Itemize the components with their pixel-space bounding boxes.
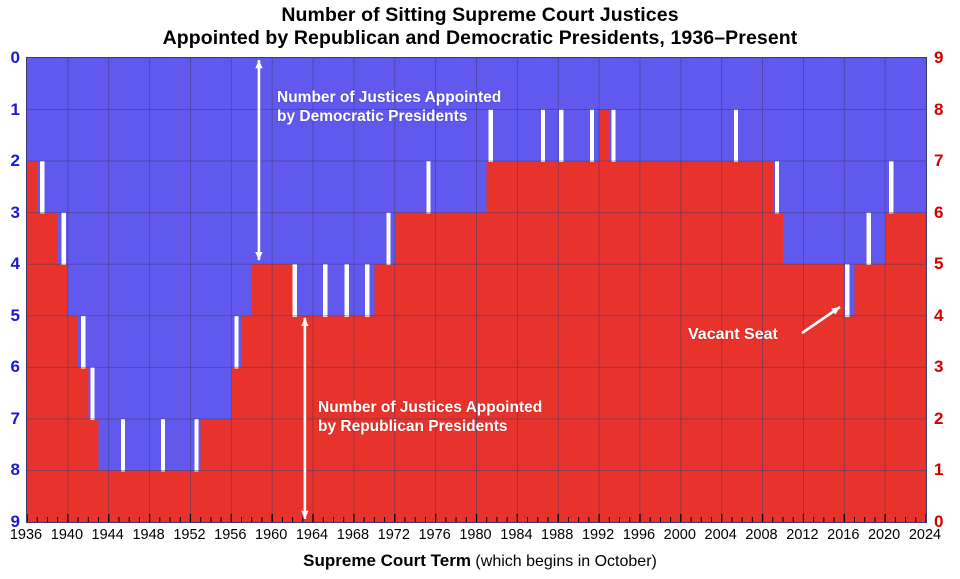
republican-step: [814, 264, 824, 522]
vacant-seat-sliver: [293, 264, 297, 317]
republican-step: [58, 264, 68, 522]
republican-step: [803, 264, 813, 522]
x-tick-2004: 2004: [698, 527, 744, 543]
vacant-seat-sliver: [161, 419, 165, 472]
stacked-area-chart: [27, 58, 926, 522]
x-tick-1980: 1980: [453, 527, 499, 543]
republican-step: [282, 264, 292, 522]
x-tick-2016: 2016: [820, 527, 866, 543]
republican-step: [609, 161, 619, 522]
x-tick-1988: 1988: [534, 527, 580, 543]
x-tick-2020: 2020: [861, 527, 907, 543]
vacant-seat-sliver: [81, 316, 85, 369]
y-left-tick-2: 2: [0, 152, 20, 169]
x-tick-2012: 2012: [779, 527, 825, 543]
x-axis-title: Supreme Court Term (which begins in Octo…: [0, 551, 960, 571]
x-tick-1948: 1948: [126, 527, 172, 543]
republican-step: [160, 470, 170, 522]
vacant-seat-sliver: [889, 161, 893, 214]
x-tick-1996: 1996: [616, 527, 662, 543]
vacant-seat-sliver: [40, 161, 44, 214]
republican-step: [129, 470, 139, 522]
republican-step: [865, 264, 875, 522]
republican-step: [517, 161, 527, 522]
republican-step: [119, 470, 129, 522]
republican-step: [487, 161, 497, 522]
republican-step: [640, 161, 650, 522]
x-tick-1964: 1964: [289, 527, 335, 543]
x-tick-1960: 1960: [248, 527, 294, 543]
vacant-seat-sliver: [426, 161, 430, 214]
y-right-tick-3: 3: [934, 358, 954, 375]
vacant-seat-sliver: [867, 213, 871, 266]
republican-step: [170, 470, 180, 522]
republican-step: [558, 161, 568, 522]
x-tick-1956: 1956: [207, 527, 253, 543]
y-left-tick-3: 3: [0, 204, 20, 221]
republican-step: [834, 264, 844, 522]
republican-step: [620, 161, 630, 522]
vacant-seat-sliver: [541, 110, 545, 163]
y-right-tick-9: 9: [934, 49, 954, 66]
vacant-seat-sliver: [62, 213, 66, 266]
x-axis-title-note: (which begins in October): [471, 553, 657, 570]
y-right-tick-2: 2: [934, 410, 954, 427]
y-right-tick-7: 7: [934, 152, 954, 169]
y-left-tick-6: 6: [0, 358, 20, 375]
vacant-seat-sliver: [387, 213, 391, 266]
republican-step: [190, 470, 200, 522]
republican-step: [538, 161, 548, 522]
y-right-tick-5: 5: [934, 255, 954, 272]
republican-step: [568, 161, 578, 522]
y-left-tick-7: 7: [0, 410, 20, 427]
annotation-democratic-line2: by Democratic Presidents: [277, 107, 501, 126]
republican-step: [630, 161, 640, 522]
annotation-democratic-line1: Number of Justices Appointed: [277, 88, 501, 107]
vacant-seat-sliver: [559, 110, 563, 163]
vacant-seat-sliver: [323, 264, 327, 317]
republican-step: [793, 264, 803, 522]
y-right-tick-8: 8: [934, 101, 954, 118]
vacant-seat-sliver: [611, 110, 615, 163]
vacant-seat-sliver: [365, 264, 369, 317]
republican-step: [262, 264, 272, 522]
x-tick-1936: 1936: [3, 527, 49, 543]
republican-step: [824, 264, 834, 522]
x-tick-1992: 1992: [575, 527, 621, 543]
y-left-tick-8: 8: [0, 461, 20, 478]
republican-step: [109, 470, 119, 522]
republican-step: [27, 161, 37, 522]
annotation-democratic: Number of Justices Appointed by Democrat…: [277, 88, 501, 126]
x-tick-1952: 1952: [167, 527, 213, 543]
y-right-tick-6: 6: [934, 204, 954, 221]
republican-step: [150, 470, 160, 522]
x-tick-1984: 1984: [493, 527, 539, 543]
y-right-tick-1: 1: [934, 461, 954, 478]
x-tick-1944: 1944: [85, 527, 131, 543]
chart-title-line2: Appointed by Republican and Democratic P…: [0, 27, 960, 50]
republican-step: [507, 161, 517, 522]
republican-step: [671, 161, 681, 522]
y-left-tick-5: 5: [0, 307, 20, 324]
vacant-seat-sliver: [775, 161, 779, 214]
annotation-republican: Number of Justices Appointed by Republic…: [318, 398, 542, 436]
republican-step: [548, 161, 558, 522]
vacant-seat-sliver: [194, 419, 198, 472]
vacant-seat-sliver: [590, 110, 594, 163]
republican-step: [385, 264, 395, 522]
vacant-seat-sliver: [845, 264, 849, 317]
plot-area: [26, 57, 927, 523]
y-left-tick-4: 4: [0, 255, 20, 272]
y-left-tick-1: 1: [0, 101, 20, 118]
republican-step: [231, 367, 241, 522]
chart-title: Number of Sitting Supreme Court Justices…: [0, 4, 960, 50]
republican-step: [875, 264, 885, 522]
annotation-vacant-seat: Vacant Seat: [688, 325, 778, 344]
republican-step: [579, 161, 589, 522]
vacant-seat-sliver: [90, 367, 94, 420]
chart-page: Number of Sitting Supreme Court Justices…: [0, 0, 960, 579]
x-tick-2000: 2000: [657, 527, 703, 543]
republican-step: [252, 264, 262, 522]
vacant-seat-sliver: [345, 264, 349, 317]
x-tick-2008: 2008: [739, 527, 785, 543]
republican-step: [783, 264, 793, 522]
y-right-tick-4: 4: [934, 307, 954, 324]
republican-step: [650, 161, 660, 522]
annotation-republican-line1: Number of Justices Appointed: [318, 398, 542, 417]
annotation-republican-line2: by Republican Presidents: [318, 417, 542, 436]
x-tick-2024: 2024: [902, 527, 948, 543]
republican-step: [528, 161, 538, 522]
x-tick-1940: 1940: [44, 527, 90, 543]
republican-step: [854, 264, 864, 522]
vacant-seat-sliver: [121, 419, 125, 472]
republican-step: [78, 367, 88, 522]
republican-step: [497, 161, 507, 522]
y-left-tick-0: 0: [0, 49, 20, 66]
vacant-seat-sliver: [734, 110, 738, 163]
republican-step: [660, 161, 670, 522]
x-tick-1976: 1976: [412, 527, 458, 543]
vacant-seat-sliver: [234, 316, 238, 369]
republican-step: [99, 470, 109, 522]
republican-step: [589, 161, 599, 522]
republican-step: [374, 264, 384, 522]
x-tick-1968: 1968: [330, 527, 376, 543]
republican-step: [180, 470, 190, 522]
republican-step: [139, 470, 149, 522]
x-axis-title-main: Supreme Court Term: [303, 551, 471, 570]
x-tick-1972: 1972: [371, 527, 417, 543]
chart-title-line1: Number of Sitting Supreme Court Justices: [0, 4, 960, 27]
republican-step: [272, 264, 282, 522]
